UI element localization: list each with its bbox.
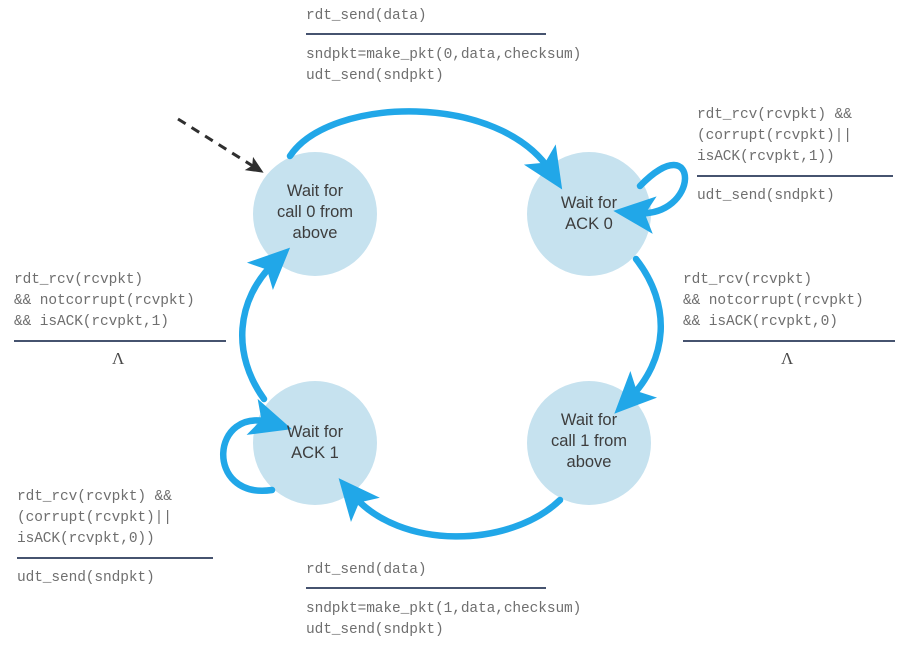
state-label-wait-ack-1: Wait for <box>287 423 344 441</box>
arc-call1-to-ack1 <box>352 494 560 536</box>
state-label-wait-ack-0: Wait for <box>561 194 618 212</box>
transition-ack1loop-event-line-3: isACK(rcvpkt,0)) <box>17 529 213 550</box>
transition-label-ack0-to-call1: rdt_rcv(rcvpkt) && notcorrupt(rcvpkt) &&… <box>683 270 895 355</box>
transition-ack0loop-divider <box>697 175 893 177</box>
transition-bottom-event-line-1: rdt_send(data) <box>306 560 581 581</box>
transition-ack1loop-action-line-1: udt_send(sndpkt) <box>17 568 213 589</box>
transition-left-event-line-1: rdt_rcv(rcvpkt) <box>14 270 226 291</box>
arc-ack1-to-call0 <box>242 262 275 399</box>
state-label-wait-call-0-l3: above <box>293 224 338 242</box>
transition-bottom-action-line-2: udt_send(sndpkt) <box>306 620 581 641</box>
transition-label-bottom: rdt_send(data) sndpkt=make_pkt(1,data,ch… <box>306 560 581 625</box>
transition-top-action-line-1: sndpkt=make_pkt(0,data,checksum) <box>306 45 581 66</box>
transition-ack1loop-event-line-1: rdt_rcv(rcvpkt) && <box>17 487 213 508</box>
transition-bottom-divider <box>306 587 546 589</box>
transition-right-action-lambda: Λ <box>781 349 911 369</box>
transition-ack0loop-event-line-3: isACK(rcvpkt,1)) <box>697 147 893 168</box>
transition-ack0loop-event-line-1: rdt_rcv(rcvpkt) && <box>697 105 893 126</box>
state-label-wait-ack-1-l2: ACK 1 <box>291 444 339 462</box>
transition-ack1loop-event-line-2: (corrupt(rcvpkt)|| <box>17 508 213 529</box>
transition-label-ack1-to-call0: rdt_rcv(rcvpkt) && notcorrupt(rcvpkt) &&… <box>14 270 226 355</box>
transition-label-ack0-selfloop: rdt_rcv(rcvpkt) && (corrupt(rcvpkt)|| is… <box>697 105 893 191</box>
transition-top-event-line-1: rdt_send(data) <box>306 6 581 27</box>
transition-ack0loop-event-line-2: (corrupt(rcvpkt)|| <box>697 126 893 147</box>
transition-right-event-line-1: rdt_rcv(rcvpkt) <box>683 270 895 291</box>
transition-right-event-line-3: && isACK(rcvpkt,0) <box>683 312 895 333</box>
transition-left-divider <box>14 340 226 342</box>
transition-ack0loop-action-line-1: udt_send(sndpkt) <box>697 186 893 207</box>
transition-right-event-line-2: && notcorrupt(rcvpkt) <box>683 291 895 312</box>
state-label-wait-call-1-l2: call 1 from <box>551 432 627 450</box>
transition-right-divider <box>683 340 895 342</box>
start-arrow-icon <box>178 119 256 168</box>
transition-left-action-lambda: Λ <box>112 349 324 369</box>
transition-top-divider <box>306 33 546 35</box>
state-label-wait-call-0: Wait for <box>287 182 344 200</box>
transition-left-event-line-2: && notcorrupt(rcvpkt) <box>14 291 226 312</box>
transition-label-ack1-selfloop: rdt_rcv(rcvpkt) && (corrupt(rcvpkt)|| is… <box>17 487 213 573</box>
transition-left-event-line-3: && isACK(rcvpkt,1) <box>14 312 226 333</box>
state-label-wait-ack-0-l2: ACK 0 <box>565 215 613 233</box>
transition-bottom-action-line-1: sndpkt=make_pkt(1,data,checksum) <box>306 599 581 620</box>
transition-ack1loop-divider <box>17 557 213 559</box>
fsm-diagram: Wait for call 0 from above Wait for ACK … <box>0 0 911 661</box>
state-label-wait-call-1: Wait for <box>561 411 618 429</box>
state-label-wait-call-0-l2: call 0 from <box>277 203 353 221</box>
state-label-wait-call-1-l3: above <box>567 453 612 471</box>
arc-ack0-to-call1 <box>629 259 661 399</box>
transition-top-action-line-2: udt_send(sndpkt) <box>306 66 581 87</box>
transition-label-top: rdt_send(data) sndpkt=make_pkt(0,data,ch… <box>306 6 581 71</box>
state-circle-wait-ack-1[interactable] <box>253 381 377 505</box>
